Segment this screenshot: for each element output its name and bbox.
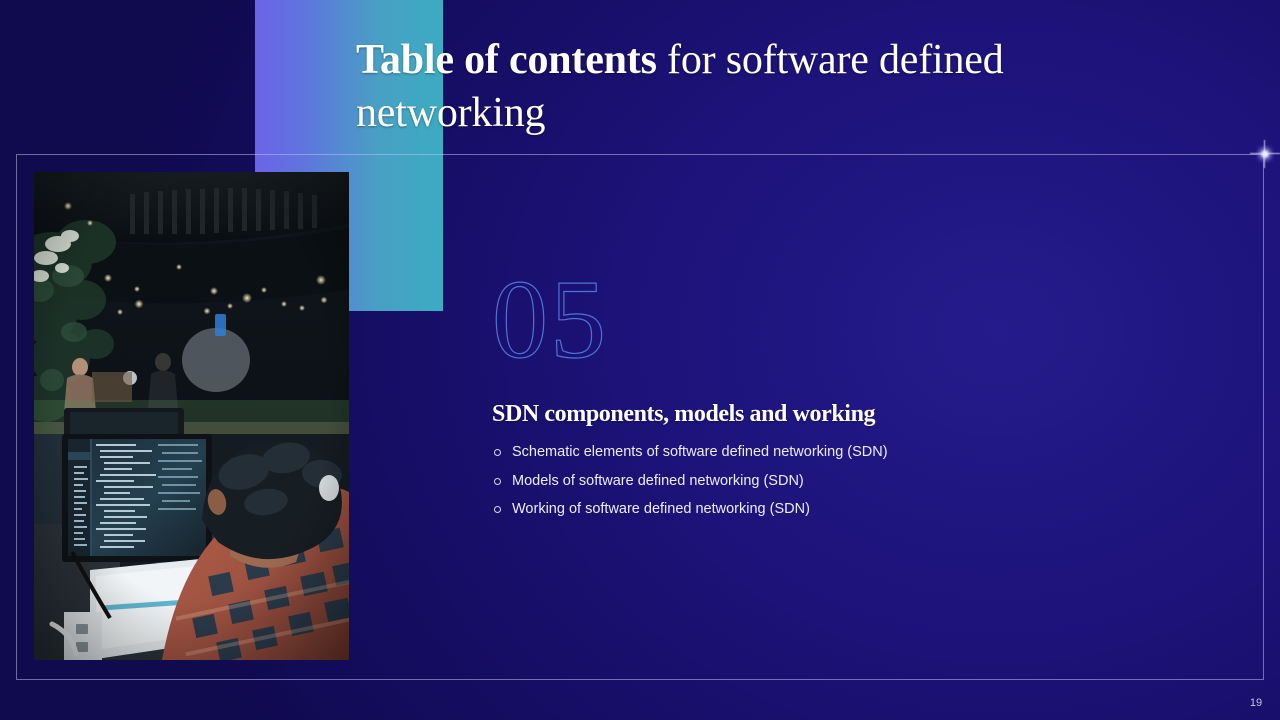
list-item: Working of software defined networking (… [494, 501, 888, 530]
list-item-label: Working of software defined networking (… [512, 501, 810, 517]
section-heading: SDN components, models and working [492, 401, 875, 428]
list-item: Models of software defined networking (S… [494, 473, 888, 502]
bullet-circle-icon [494, 478, 501, 485]
list-item: Schematic elements of software defined n… [494, 444, 888, 473]
list-item-label: Schematic elements of software defined n… [512, 444, 888, 460]
slide-canvas: Table of contents for software defined n… [0, 0, 1280, 720]
bullet-circle-icon [494, 506, 501, 513]
list-item-label: Models of software defined networking (S… [512, 473, 804, 489]
section-bullet-list: Schematic elements of software defined n… [494, 444, 888, 530]
page-number: 19 [1242, 697, 1270, 709]
page-title-strong: Table of contents [356, 37, 657, 83]
page-title: Table of contents for software defined n… [356, 34, 1186, 140]
section-number: 05 [492, 264, 608, 376]
sparkle-icon [1256, 145, 1274, 163]
bullet-circle-icon [494, 449, 501, 456]
section-photo [34, 172, 349, 660]
photo-illustration [34, 172, 349, 660]
